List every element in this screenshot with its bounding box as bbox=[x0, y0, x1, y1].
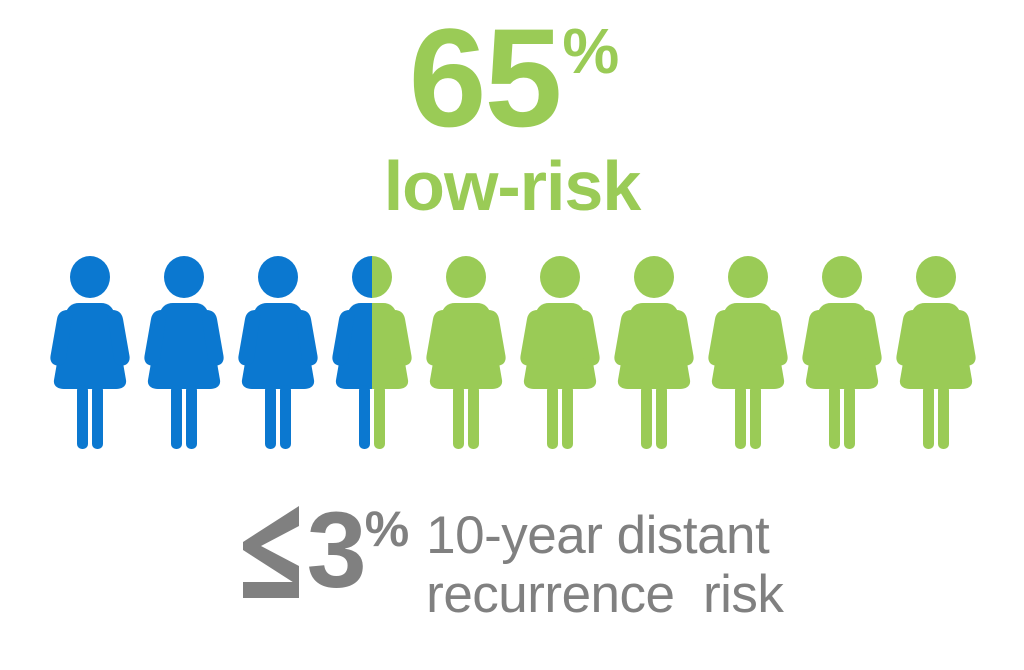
female-figure-icon bbox=[612, 255, 696, 451]
infographic-canvas: 65% low-risk 3% 10-year distant recurren… bbox=[0, 0, 1024, 670]
recurrence-description-line-1: 10-year distant bbox=[426, 506, 783, 565]
recurrence-stat-value: 3 bbox=[307, 500, 364, 599]
percent-headline: 65% bbox=[0, 14, 1024, 143]
percent-sign: % bbox=[562, 15, 617, 87]
female-figure-icon bbox=[706, 255, 790, 451]
recurrence-stat-group: 3% bbox=[241, 498, 409, 600]
female-figure-icon bbox=[236, 255, 320, 451]
headline-block: 65% low-risk bbox=[0, 14, 1024, 221]
risk-label: low-risk bbox=[0, 151, 1024, 221]
female-figure-icon bbox=[48, 255, 132, 451]
female-figure-icon bbox=[894, 255, 978, 451]
percent-value: 65 bbox=[409, 0, 561, 156]
recurrence-stat-sign: % bbox=[365, 504, 409, 554]
bottom-statement-block: 3% 10-year distant recurrence risk bbox=[0, 498, 1024, 638]
female-figure-icon bbox=[142, 255, 226, 451]
female-figure-icon bbox=[518, 255, 602, 451]
pictogram-figure-row bbox=[48, 255, 978, 455]
female-figure-icon bbox=[330, 255, 414, 451]
recurrence-description-line-2: recurrence risk bbox=[426, 565, 783, 624]
less-than-or-equal-icon bbox=[241, 500, 303, 600]
female-figure-icon bbox=[800, 255, 884, 451]
recurrence-description: 10-year distant recurrence risk bbox=[426, 498, 783, 625]
female-figure-icon bbox=[424, 255, 508, 451]
